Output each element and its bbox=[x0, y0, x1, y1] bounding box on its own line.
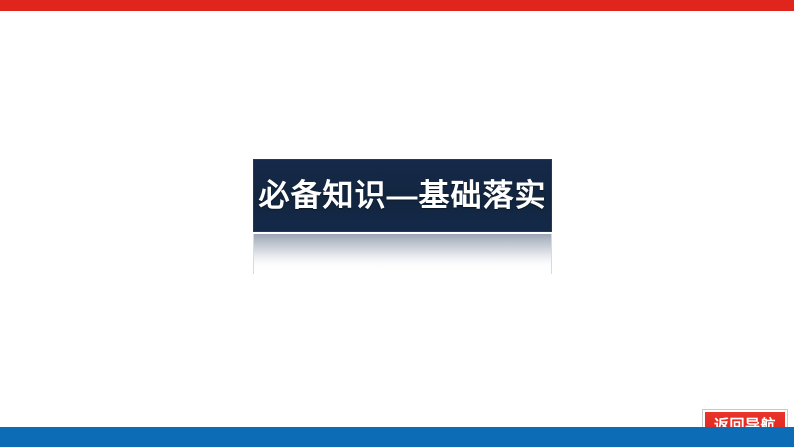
slide-canvas: 必备知识—基础落实 必备知识—基础落实 返回导航 bbox=[0, 0, 794, 447]
section-title-plate: 必备知识—基础落实 bbox=[253, 159, 552, 232]
section-title-block: 必备知识—基础落实 必备知识—基础落实 bbox=[253, 159, 552, 274]
top-red-accent-bar bbox=[0, 0, 794, 11]
page-title: 必备知识—基础落实 bbox=[259, 180, 547, 211]
bottom-blue-accent-bar bbox=[0, 427, 794, 447]
section-title-reflection: 必备知识—基础落实 bbox=[253, 234, 552, 274]
reflection-fade-overlay bbox=[254, 234, 551, 274]
